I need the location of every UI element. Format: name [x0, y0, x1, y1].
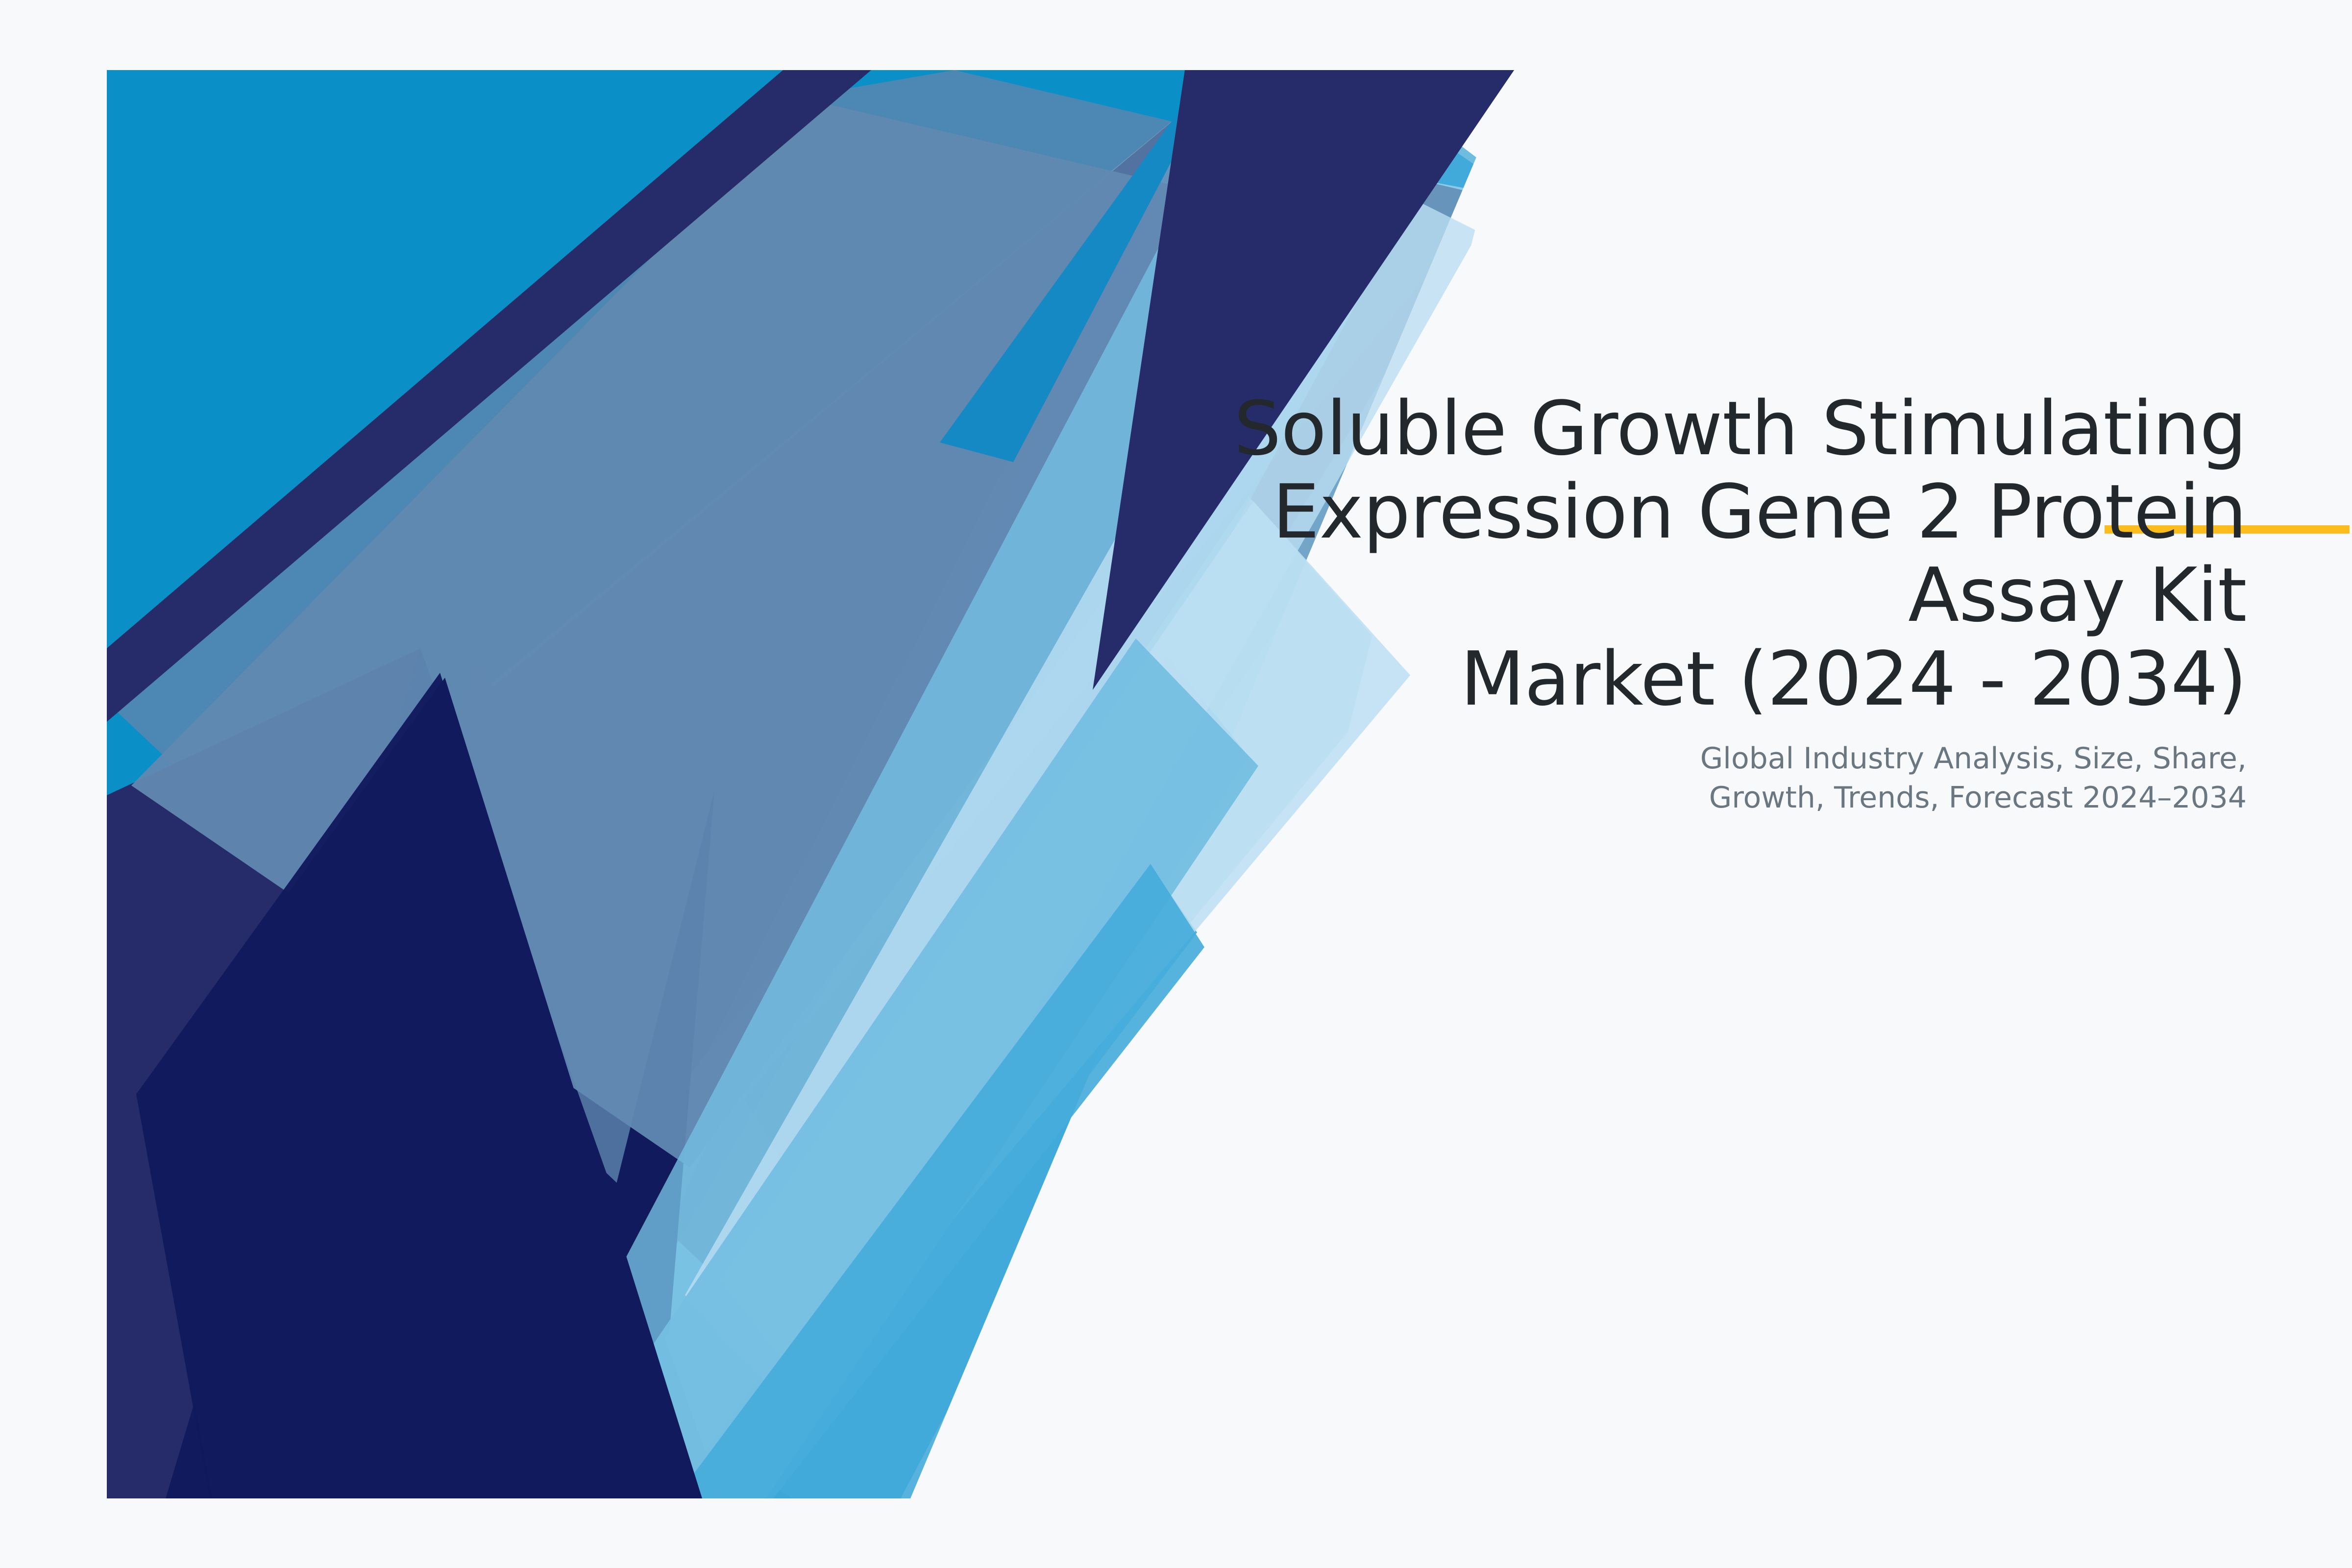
page-subtitle: Global Industry Analysis, Size, Share, G… [1046, 739, 2247, 818]
page-root: Soluble Growth Stimulating Expression Ge… [0, 0, 2352, 1568]
subtitle-line-1: Global Industry Analysis, Size, Share, [1700, 741, 2247, 776]
title-line-1: Soluble Growth Stimulating [1234, 385, 2247, 472]
subtitle-line-2: Growth, Trends, Forecast 2024–2034 [1709, 781, 2247, 815]
title-line-3: Market (2024 - 2034) [1460, 636, 2247, 722]
title-line-2: Expression Gene 2 Protein Assay Kit [1273, 468, 2247, 638]
cover-text-block: Soluble Growth Stimulating Expression Ge… [1046, 387, 2247, 818]
page-title: Soluble Growth Stimulating Expression Ge… [1046, 387, 2247, 721]
